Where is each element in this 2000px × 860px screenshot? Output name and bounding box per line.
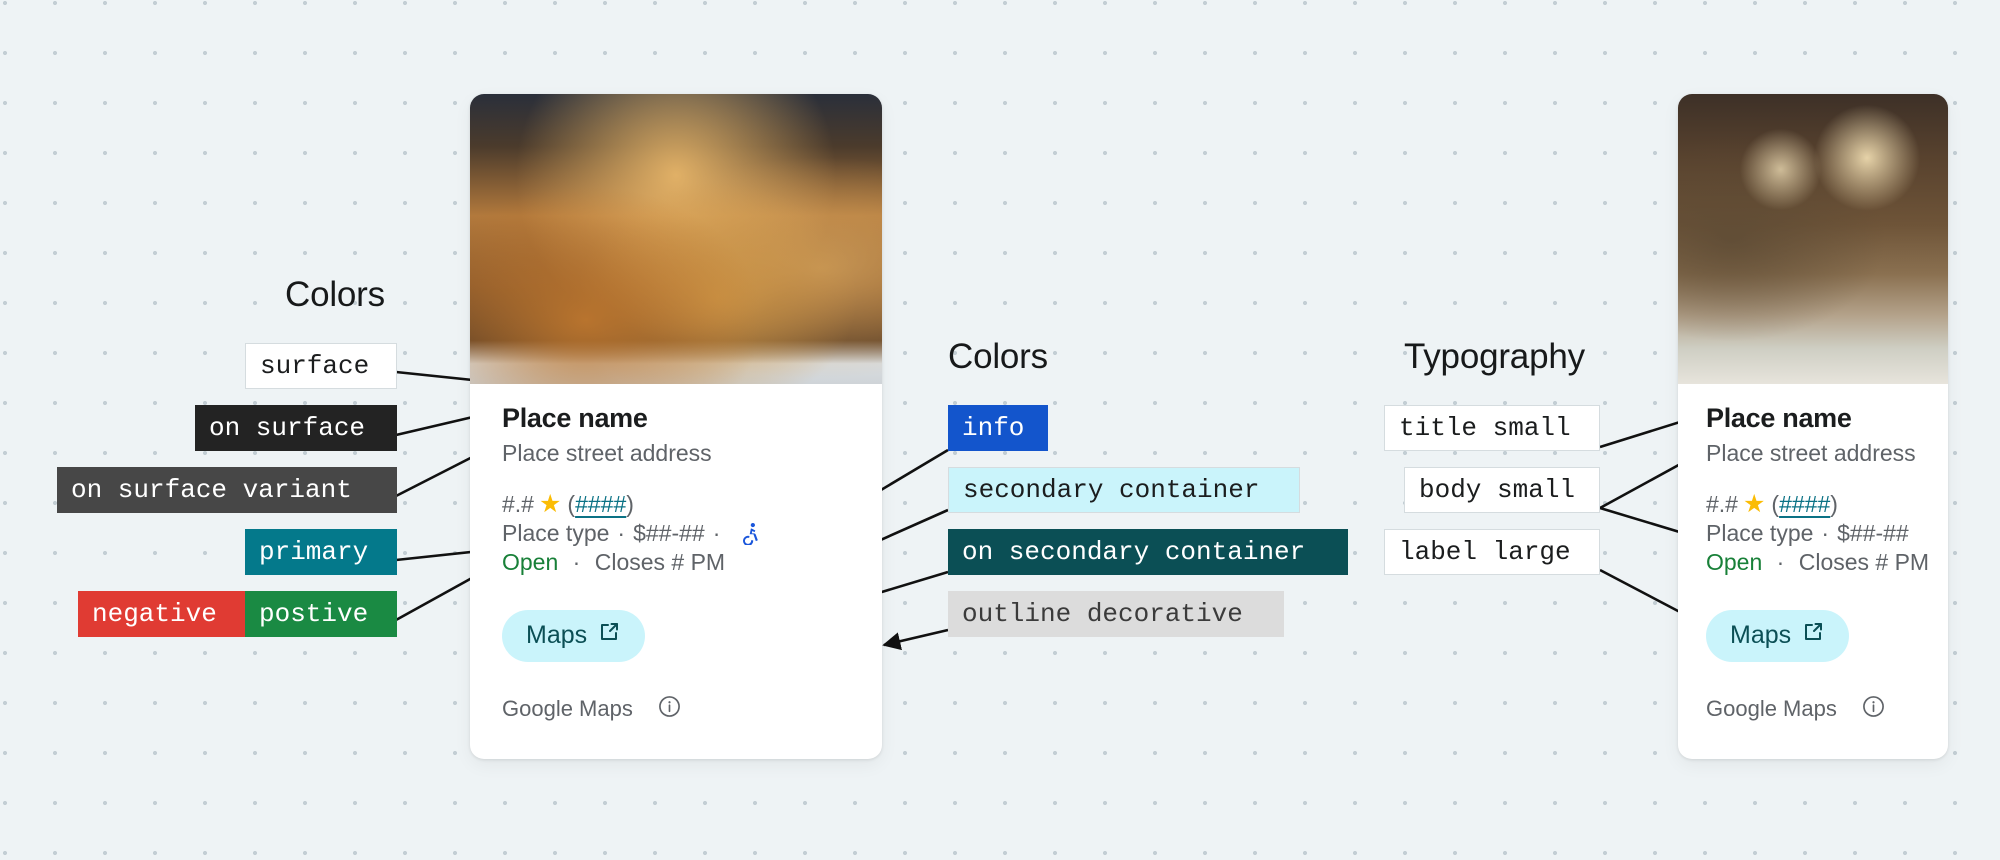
photo-image: [1678, 94, 1948, 384]
type-chip-label: body small: [1419, 477, 1575, 503]
closing-time: Closes # PM: [595, 549, 725, 575]
place-card-center[interactable]: Place name Place street address #.# ★ ( …: [470, 94, 882, 759]
maps-button-label: Maps: [1730, 621, 1791, 650]
info-circle-icon[interactable]: [657, 694, 682, 725]
google-maps-label: Google Maps: [1706, 696, 1837, 722]
color-chip-label: info: [962, 415, 1024, 441]
reviews-paren-open: (: [567, 491, 575, 518]
color-chip-on-surface[interactable]: on surface: [195, 405, 397, 451]
color-chip-info[interactable]: info: [948, 405, 1048, 451]
place-price: $##-##: [1837, 520, 1909, 547]
place-name: Place name: [502, 402, 850, 436]
reviews-count-link[interactable]: ####: [575, 491, 626, 518]
color-chip-negative[interactable]: negative: [78, 591, 245, 637]
place-price: $##-##: [633, 520, 705, 547]
color-chip-label: on surface variant: [71, 477, 352, 503]
color-chip-on-surface-variant[interactable]: on surface variant: [57, 467, 397, 513]
star-icon: ★: [1743, 492, 1765, 517]
type-chip-label: title small: [1399, 415, 1571, 441]
heading-colors-left: Colors: [285, 275, 385, 315]
color-chip-label: outline decorative: [962, 601, 1243, 627]
place-card-footer: Google Maps: [1678, 694, 1948, 751]
color-chip-postive[interactable]: postive: [245, 591, 397, 637]
hours-separator: ·: [1777, 549, 1785, 575]
open-status: Open: [502, 549, 558, 575]
color-chip-label: on surface: [209, 415, 365, 441]
place-meta-row: Place type · $##-## ·: [502, 520, 850, 547]
color-chip-label: postive: [259, 601, 368, 627]
meta-separator: ·: [617, 520, 625, 547]
color-chip-on-secondary-container[interactable]: on secondary container: [948, 529, 1348, 575]
place-card-right[interactable]: Place name Place street address #.# ★ ( …: [1678, 94, 1948, 759]
place-hours-row: Open · Closes # PM: [502, 549, 850, 576]
color-chip-label: primary: [259, 539, 368, 565]
place-card-body: Place name Place street address #.# ★ ( …: [1678, 384, 1948, 662]
type-chip-label: label large: [1399, 539, 1571, 565]
open-status: Open: [1706, 549, 1762, 575]
place-type: Place type: [502, 520, 609, 547]
color-chip-secondary-container[interactable]: secondary container: [948, 467, 1300, 513]
place-photo-bakery: [470, 94, 882, 384]
meta-separator-2: ·: [713, 520, 721, 547]
star-icon: ★: [539, 492, 561, 517]
external-link-icon: [597, 620, 621, 651]
google-maps-label: Google Maps: [502, 696, 633, 722]
meta-separator: ·: [1821, 520, 1829, 547]
wheelchair-icon: [738, 522, 761, 545]
heading-typography: Typography: [1404, 337, 1585, 377]
place-hours-row: Open · Closes # PM: [1706, 549, 1920, 576]
place-rating-row: #.# ★ ( #### ): [502, 491, 850, 518]
rating-value: #.#: [1706, 491, 1738, 518]
type-chip-body-small[interactable]: body small: [1404, 467, 1600, 513]
reviews-count-link[interactable]: ####: [1779, 491, 1830, 518]
color-chip-primary[interactable]: primary: [245, 529, 397, 575]
closing-time: Closes # PM: [1799, 549, 1929, 575]
color-chip-label: surface: [260, 353, 369, 379]
info-circle-icon[interactable]: [1861, 694, 1886, 725]
place-card-body: Place name Place street address #.# ★ ( …: [470, 384, 882, 662]
place-address: Place street address: [1706, 438, 1920, 469]
place-address: Place street address: [502, 438, 850, 469]
color-chip-label: on secondary container: [962, 539, 1305, 565]
color-chip-label: secondary container: [963, 477, 1259, 503]
maps-button[interactable]: Maps: [502, 610, 645, 662]
place-card-footer: Google Maps: [470, 694, 882, 751]
place-photo-cafe: [1678, 94, 1948, 384]
reviews-paren-open: (: [1771, 491, 1779, 518]
color-chip-outline-decorative[interactable]: outline decorative: [948, 591, 1284, 637]
reviews-paren-close: ): [1830, 491, 1838, 518]
maps-button[interactable]: Maps: [1706, 610, 1849, 662]
external-link-icon: [1801, 620, 1825, 651]
type-chip-title-small[interactable]: title small: [1384, 405, 1600, 451]
rating-value: #.#: [502, 491, 534, 518]
place-name: Place name: [1706, 402, 1920, 436]
photo-image: [470, 94, 882, 384]
color-chip-surface[interactable]: surface: [245, 343, 397, 389]
heading-colors-mid: Colors: [948, 337, 1048, 377]
reviews-paren-close: ): [626, 491, 634, 518]
hours-separator: ·: [573, 549, 581, 575]
maps-button-label: Maps: [526, 621, 587, 650]
type-chip-label-large[interactable]: label large: [1384, 529, 1600, 575]
place-meta-row: Place type · $##-##: [1706, 520, 1920, 547]
place-type: Place type: [1706, 520, 1813, 547]
color-chip-label: negative: [92, 601, 217, 627]
place-rating-row: #.# ★ ( #### ): [1706, 491, 1920, 518]
